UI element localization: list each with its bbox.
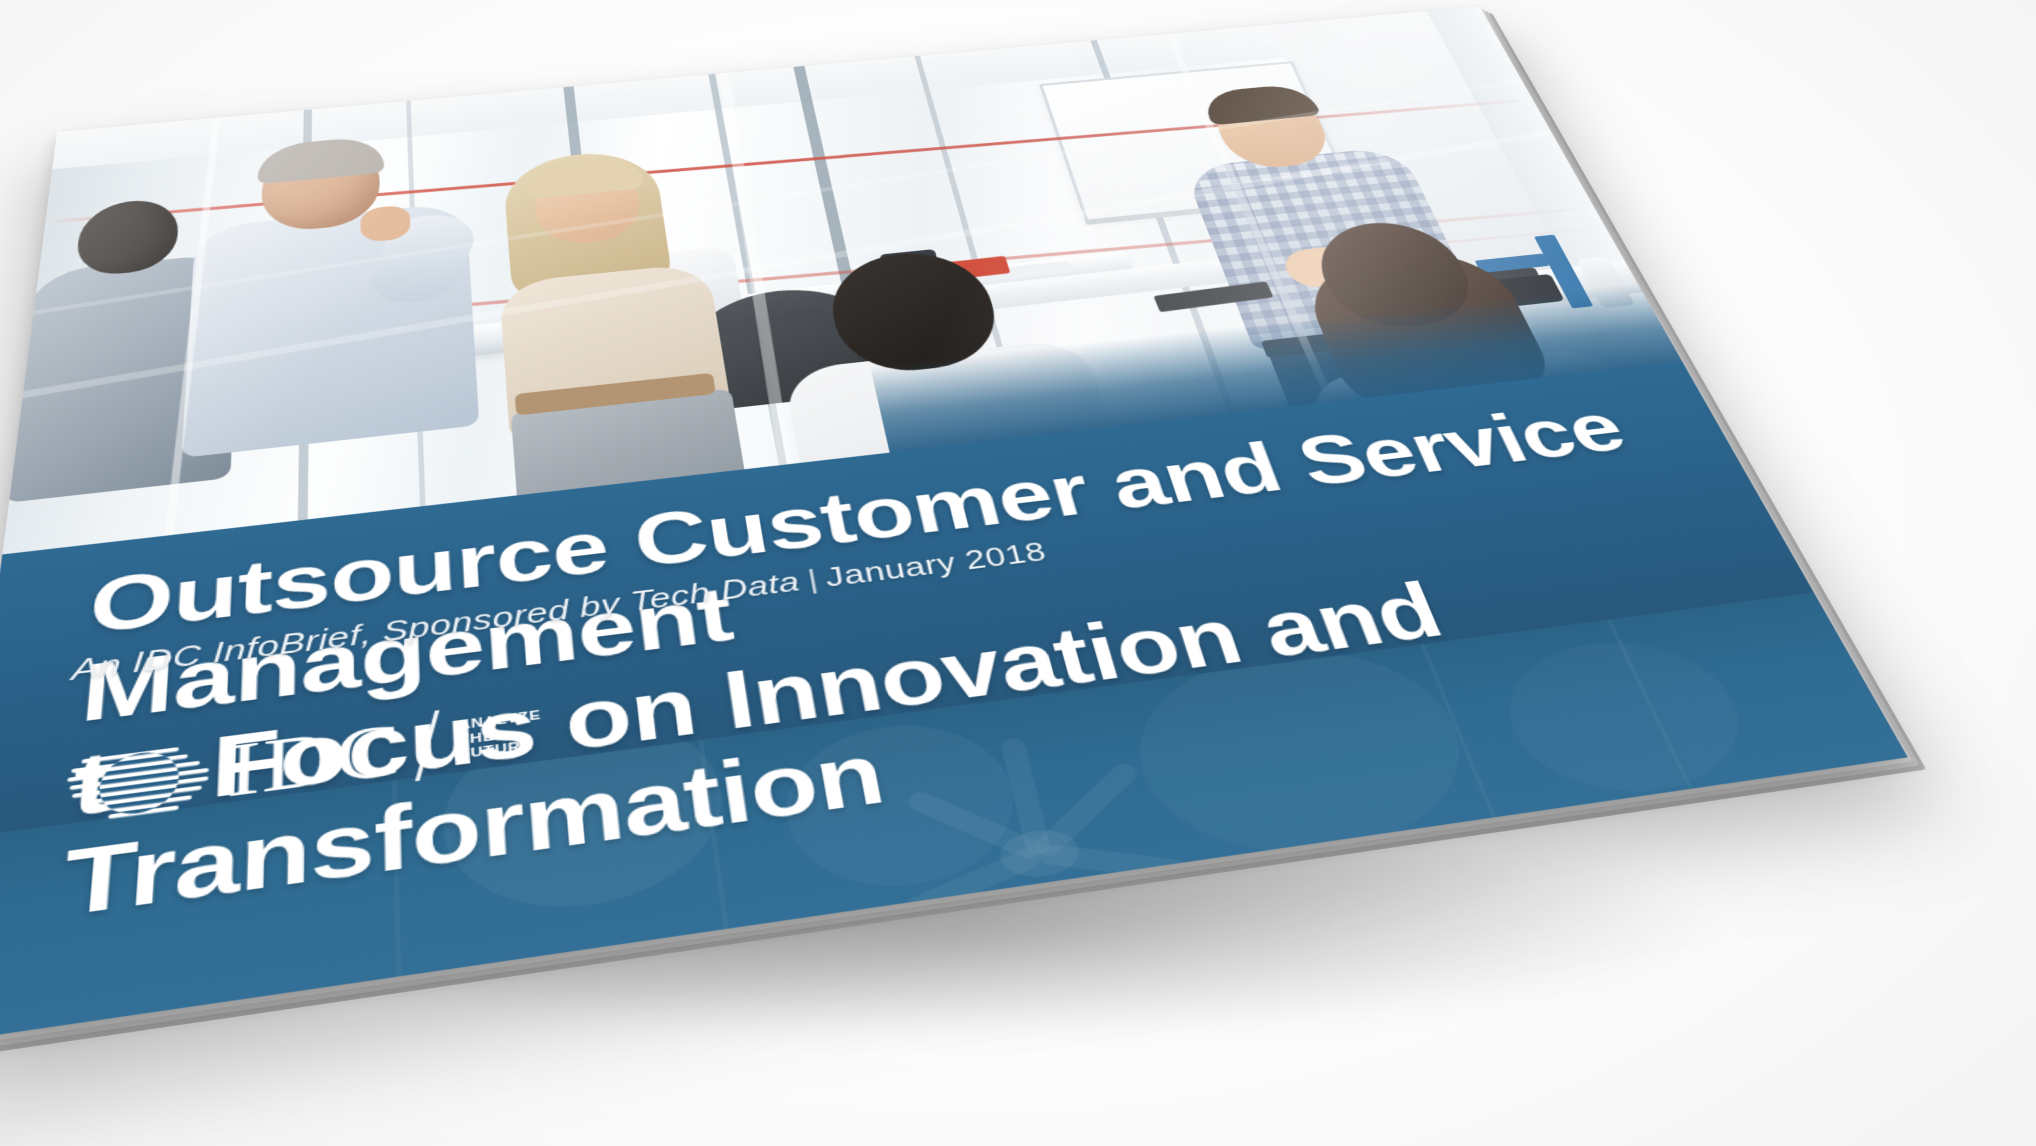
ghost-reflection-layer xyxy=(0,592,1908,1043)
panel-seam xyxy=(699,740,729,930)
cover-page: Outsource Customer and Service Managemen… xyxy=(0,6,1908,1043)
chair-leg xyxy=(1000,737,1052,855)
panel-seam xyxy=(1421,644,1496,818)
cover-title: Outsource Customer and Service Managemen… xyxy=(59,379,1885,937)
panel-seam xyxy=(1607,619,1693,789)
byline-credit: An IDC InfoBrief, Sponsored by Tech Data xyxy=(70,566,802,687)
booklet: Outsource Customer and Service Managemen… xyxy=(0,6,1908,1043)
ghost-shape xyxy=(440,704,734,925)
idc-tagline-line-3: FUTURE xyxy=(459,738,544,764)
chair-leg xyxy=(904,788,1045,862)
idc-globe-icon xyxy=(62,732,213,835)
logo-divider-slash xyxy=(415,710,439,781)
ghost-shape xyxy=(774,713,1030,901)
idc-wordmark: IDC xyxy=(226,712,404,810)
screenshot-canvas: Outsource Customer and Service Managemen… xyxy=(0,0,2036,1146)
byline-date: January 2018 xyxy=(823,536,1050,593)
idc-tagline-line-2: THE xyxy=(459,723,543,749)
panel-seam xyxy=(392,780,401,977)
person-body xyxy=(499,262,733,438)
byline-separator: | xyxy=(805,563,820,595)
ghost-shape xyxy=(1483,630,1769,806)
chair-hub xyxy=(995,826,1084,882)
book-perspective-wrapper: Outsource Customer and Service Managemen… xyxy=(0,0,2036,1146)
office-meeting-photo xyxy=(2,6,1682,554)
idc-logo: IDC ANALYZE THE FUTURE xyxy=(62,691,545,836)
lower-blue-panel xyxy=(0,592,1908,1043)
cover-title-line-1: Outsource Customer and Service Managemen… xyxy=(77,390,1638,740)
person-lower-body xyxy=(511,389,749,526)
idc-tagline: ANALYZE THE FUTURE xyxy=(458,708,544,764)
chair-leg xyxy=(1030,760,1141,860)
cover-title-line-2: to Focus on Innovation and Transformatio… xyxy=(59,522,1885,938)
cover-byline: An IDC InfoBrief, Sponsored by Tech Data… xyxy=(70,523,1157,688)
idc-tagline-line-1: ANALYZE xyxy=(458,708,542,734)
